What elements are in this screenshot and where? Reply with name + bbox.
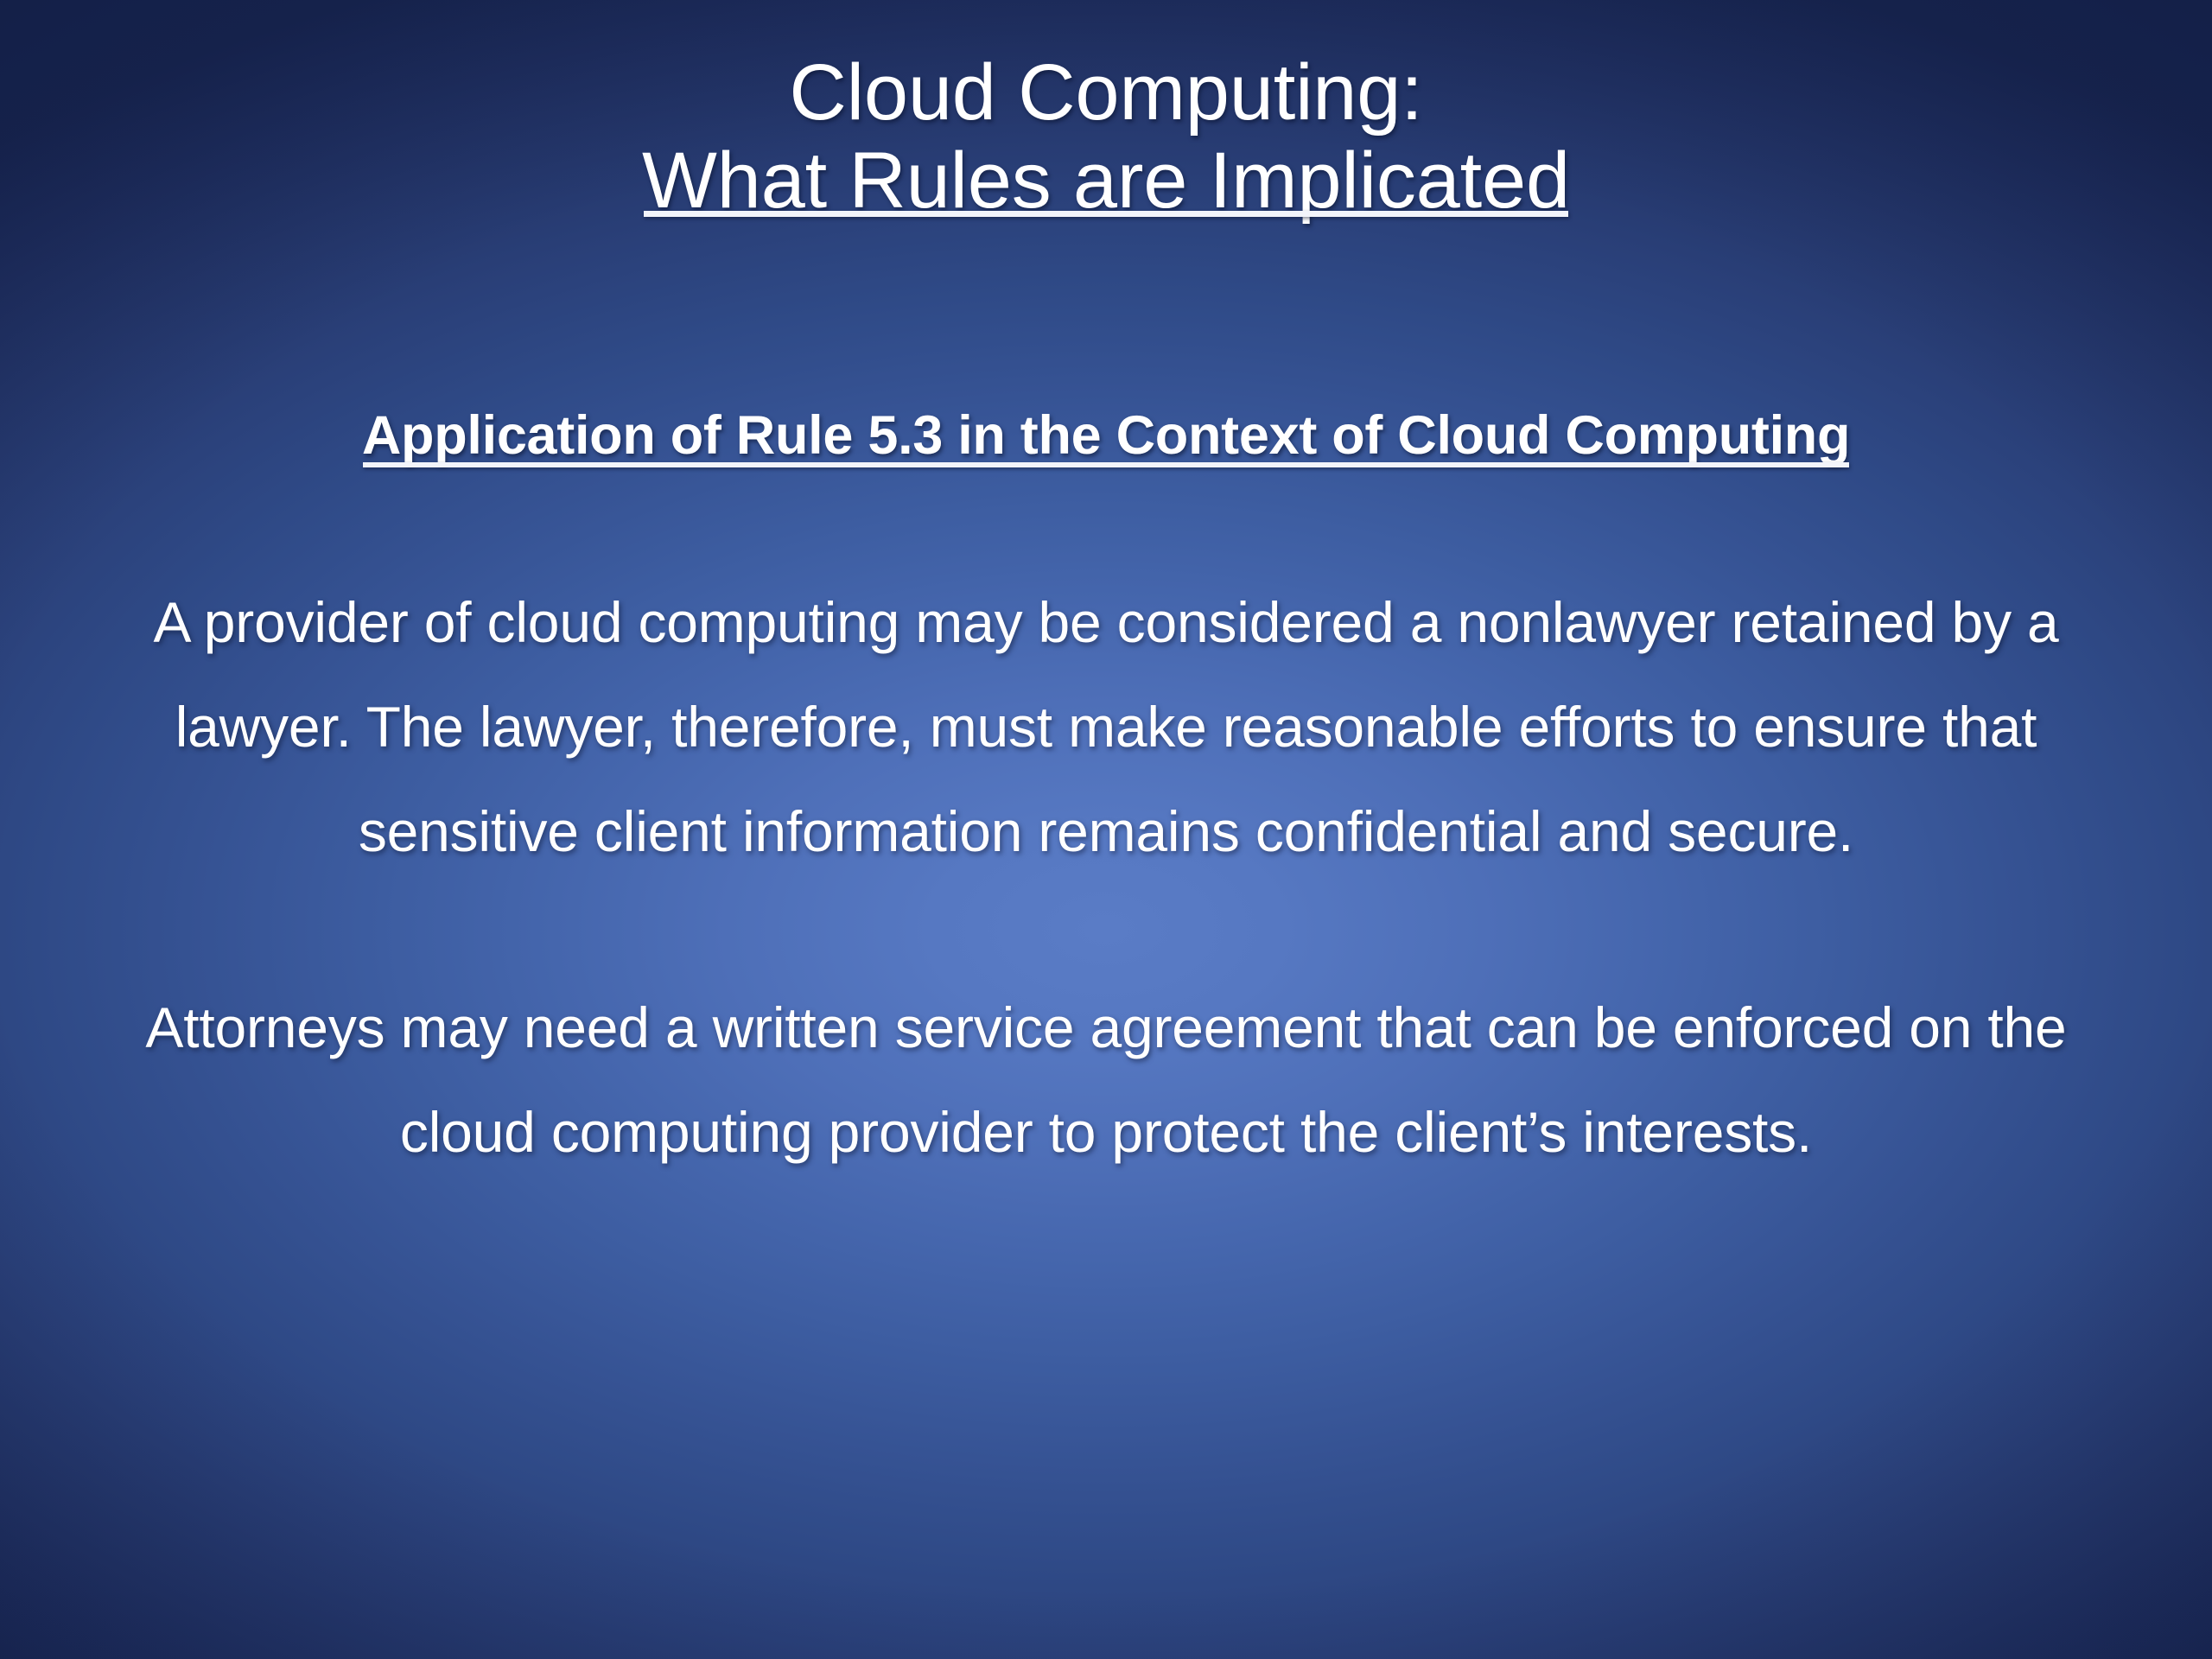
title-line-2: What Rules are Implicated [642, 138, 1570, 223]
title-line-1: Cloud Computing: [0, 50, 2212, 135]
title-underline-rule [644, 211, 1568, 217]
body-paragraph-1: A provider of cloud computing may be con… [125, 570, 2087, 884]
presentation-slide: Cloud Computing: What Rules are Implicat… [0, 0, 2212, 1659]
subheading-underline-rule [363, 462, 1849, 467]
subheading-block: Application of Rule 5.3 in the Context o… [0, 406, 2212, 466]
slide-content: Cloud Computing: What Rules are Implicat… [0, 0, 2212, 1659]
body-paragraph-2: Attorneys may need a written service agr… [125, 976, 2087, 1185]
body-text-block: A provider of cloud computing may be con… [125, 570, 2087, 1185]
subheading-text: Application of Rule 5.3 in the Context o… [362, 405, 1850, 466]
slide-title: Cloud Computing: What Rules are Implicat… [0, 50, 2212, 224]
subheading: Application of Rule 5.3 in the Context o… [362, 406, 1850, 466]
